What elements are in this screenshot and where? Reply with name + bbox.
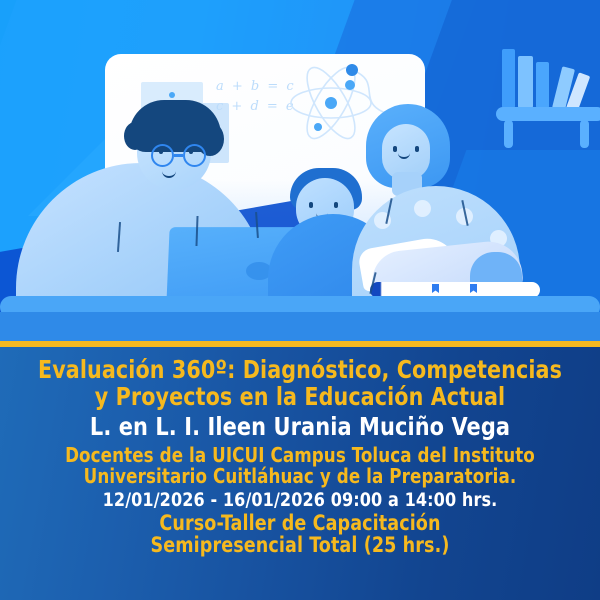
eye-right xyxy=(415,146,419,152)
course-title-line-1: Evaluación 360º: Diagnóstico, Competenci… xyxy=(24,357,576,384)
modality-line-1: Curso-Taller de Capacitación xyxy=(21,512,579,534)
shelf-book-1 xyxy=(502,49,515,108)
illustration-banner: a + b = c c + d = e xyxy=(0,0,600,342)
desk-shadow xyxy=(0,312,600,342)
whiteboard-formula-line-2: c + d = e xyxy=(216,99,296,114)
shelf-book-3 xyxy=(536,62,549,108)
bookmark-icon xyxy=(432,284,439,293)
eye-left xyxy=(309,202,313,208)
eye-right xyxy=(334,202,338,208)
course-title-line-2: y Proyectos en la Educación Actual xyxy=(24,384,576,411)
pin-icon xyxy=(169,92,175,98)
bookshelf-books xyxy=(496,47,600,108)
polka-dot xyxy=(414,200,431,217)
presenter-name: L. en L. I. Ileen Urania Muciño Vega xyxy=(21,414,579,441)
organization-line-2: Universitario Cuitláhuac y de la Prepara… xyxy=(21,466,579,487)
course-poster: a + b = c c + d = e xyxy=(0,0,600,600)
organization-line-1: Docentes de la UICUI Campus Toluca del I… xyxy=(21,445,579,466)
eye-left xyxy=(393,146,397,152)
glasses-bridge xyxy=(174,154,183,157)
bookshelf-plank xyxy=(496,107,600,121)
bookshelf-leg-right xyxy=(580,120,589,148)
course-info-panel: Evaluación 360º: Diagnóstico, Competenci… xyxy=(0,347,600,600)
course-dates: 12/01/2026 - 16/01/2026 09:00 a 14:00 hr… xyxy=(18,490,582,510)
shelf-book-2 xyxy=(518,56,533,108)
glasses-lens-right xyxy=(183,144,206,167)
modality-line-2: Semipresencial Total (25 hrs.) xyxy=(21,534,579,556)
bookshelf-leg-left xyxy=(504,120,513,148)
whiteboard-formula-line-1: a + b = c xyxy=(216,79,296,94)
bookmark-icon xyxy=(470,284,477,293)
glasses-icon xyxy=(141,144,219,168)
glasses-lens-left xyxy=(151,144,174,167)
